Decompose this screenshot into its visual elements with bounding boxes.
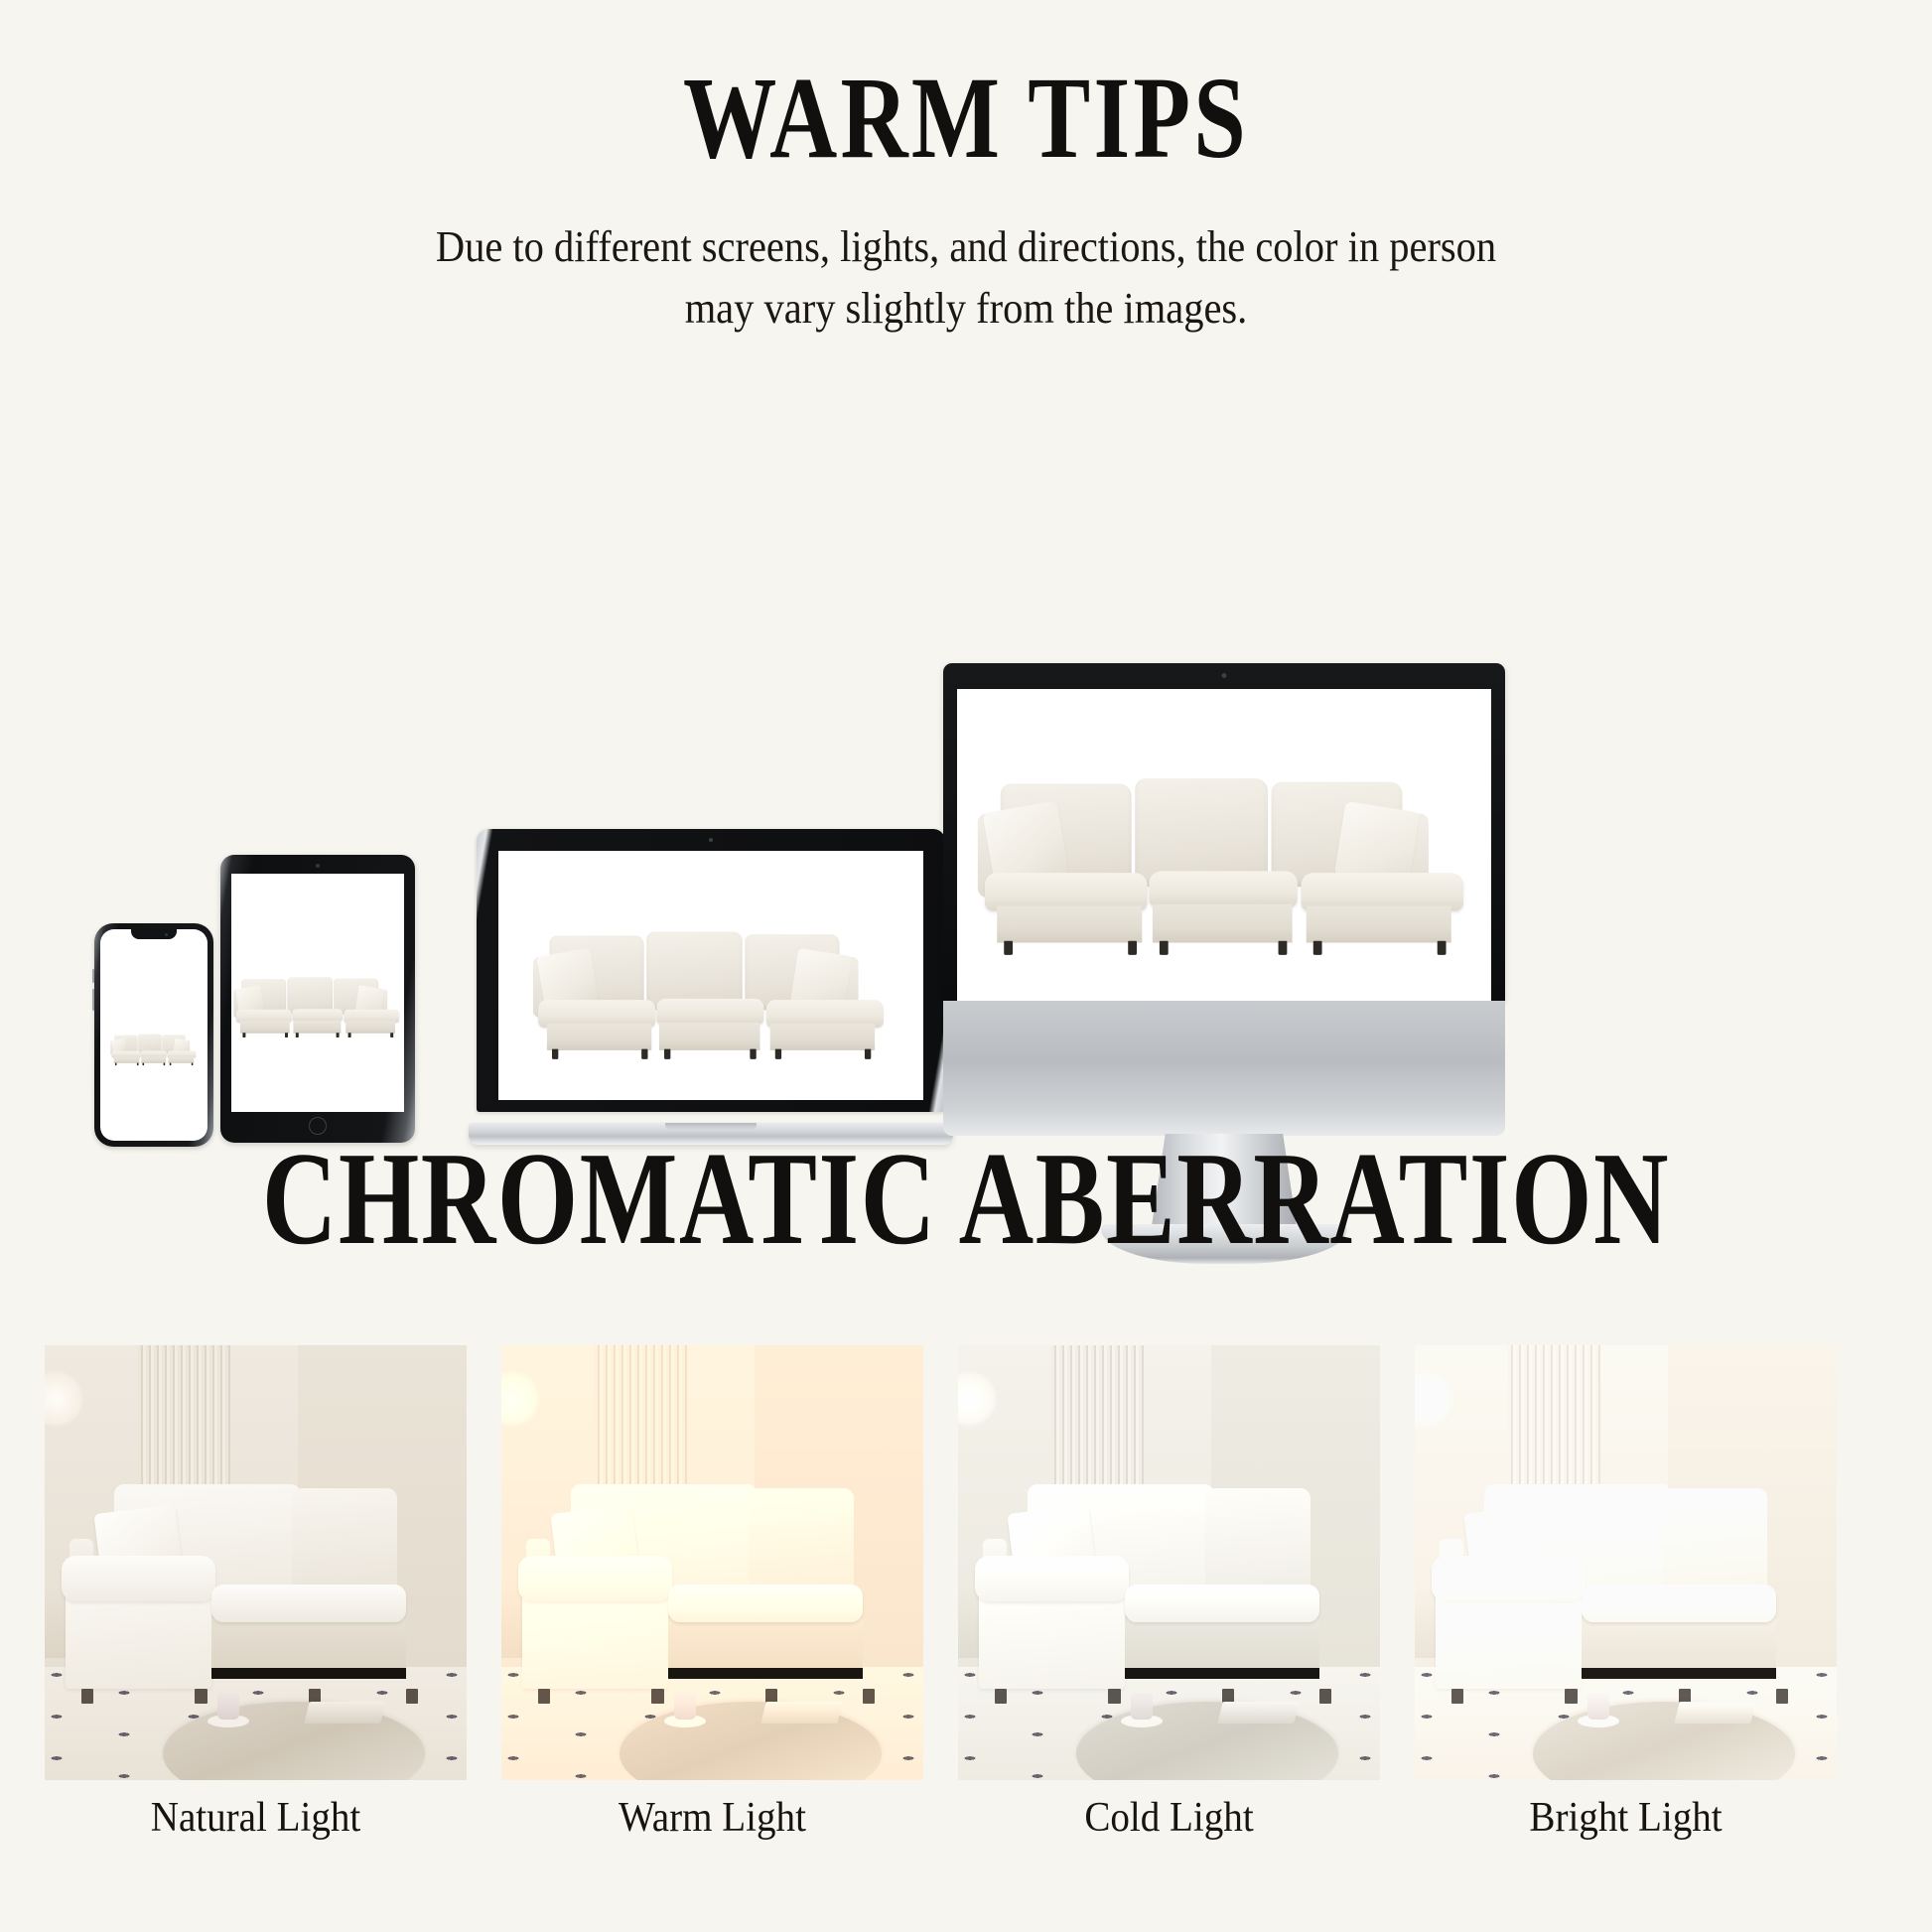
lighting-cell[interactable]: Warm Light — [501, 1345, 923, 1780]
phone-screen — [100, 929, 207, 1141]
monitor-bezel — [943, 663, 1505, 1001]
room-scene — [958, 1345, 1380, 1780]
lighting-cell[interactable]: Natural Light — [45, 1345, 467, 1780]
tablet-product-image — [231, 874, 404, 1112]
header-block: WARM TIPS Due to different screens, ligh… — [0, 60, 1932, 341]
phone-notch-icon — [131, 929, 177, 939]
lighting-caption: Cold Light — [973, 1794, 1365, 1842]
room-scene — [1415, 1345, 1837, 1780]
warm-tips-page: WARM TIPS Due to different screens, ligh… — [0, 0, 1932, 1932]
lighting-cell[interactable]: Bright Light — [1415, 1345, 1837, 1780]
lighting-thumbnail-cold[interactable] — [958, 1345, 1380, 1780]
lighting-cell[interactable]: Cold Light — [958, 1345, 1380, 1780]
lighting-caption: Warm Light — [516, 1794, 908, 1842]
sofa-graphic — [108, 1026, 201, 1065]
monitor-camera-icon — [1222, 673, 1227, 678]
smartphone-mockup — [94, 923, 213, 1147]
section-title: CHROMATIC ABERRATION — [212, 1132, 1720, 1265]
monitor-product-image — [957, 689, 1491, 1001]
phone-product-image — [100, 929, 207, 1141]
tablet-screen — [231, 874, 404, 1112]
sofa-graphic — [231, 962, 404, 1039]
lighting-thumbnail-natural[interactable] — [45, 1345, 467, 1780]
laptop-screen — [498, 851, 923, 1100]
monitor-screen — [957, 689, 1491, 1001]
tablet-mockup — [220, 855, 415, 1143]
laptop-lid — [477, 829, 945, 1112]
laptop-camera-icon — [709, 838, 713, 842]
lighting-comparison-grid: Natural Light — [45, 1345, 1887, 1780]
lighting-thumbnail-bright[interactable] — [1415, 1345, 1837, 1780]
page-title: WARM TIPS — [194, 60, 1739, 177]
laptop-mockup — [469, 829, 953, 1145]
phone-volume-down-button — [92, 989, 94, 1011]
sofa-graphic — [522, 898, 900, 1062]
laptop-product-image — [498, 851, 923, 1100]
sofa-graphic — [962, 733, 1486, 960]
lighting-caption: Natural Light — [60, 1794, 452, 1842]
subtitle-line-1: Due to different screens, lights, and di… — [354, 216, 1579, 278]
monitor-chin — [943, 1001, 1505, 1136]
device-preview-row — [0, 328, 1932, 1023]
tablet-camera-icon — [316, 864, 320, 868]
header-subtitle: Due to different screens, lights, and di… — [354, 216, 1579, 341]
lighting-caption: Bright Light — [1430, 1794, 1822, 1842]
phone-volume-up-button — [92, 969, 94, 983]
room-scene — [45, 1345, 467, 1780]
lighting-thumbnail-warm[interactable] — [501, 1345, 923, 1780]
section-heading-block: CHROMATIC ABERRATION — [0, 1132, 1932, 1265]
room-scene — [501, 1345, 923, 1780]
